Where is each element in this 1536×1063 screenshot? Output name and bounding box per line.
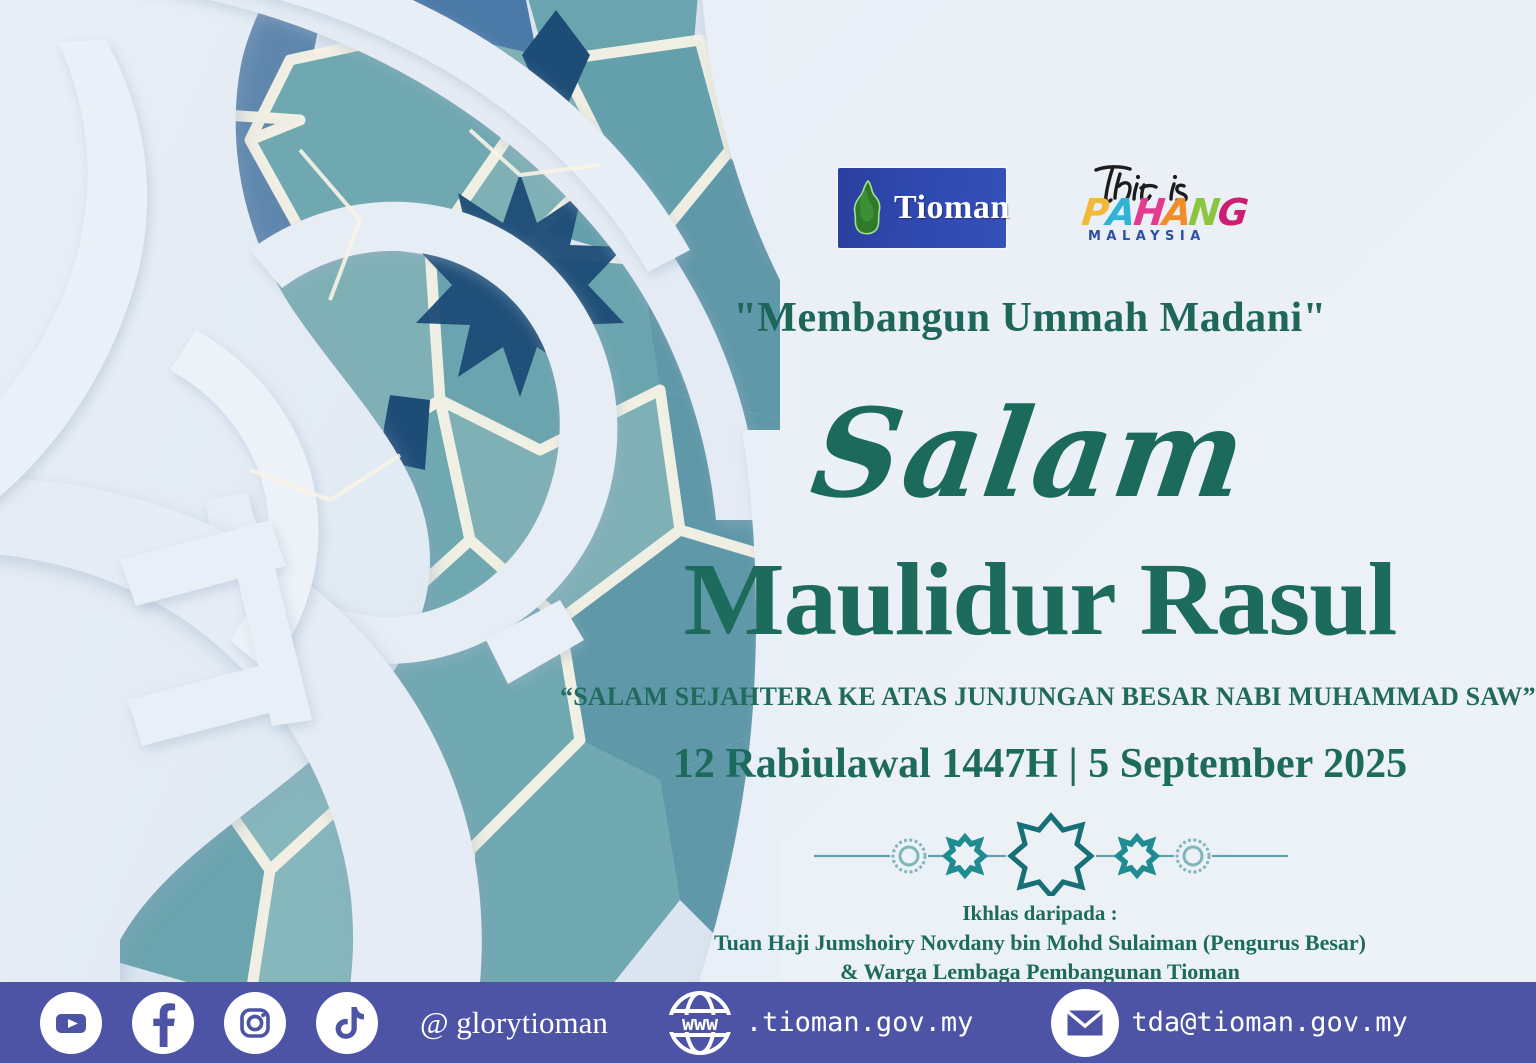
pahang-letter-2: H (1132, 194, 1165, 231)
social-handle-text: @ glorytioman (420, 1005, 608, 1041)
rosette-ornament-left (893, 840, 925, 872)
pahang-logo: PAHANG MALAYSIA (1078, 166, 1228, 250)
signature-block: Ikhlas daripada : Tuan Haji Jumshoiry No… (560, 900, 1520, 986)
greeting-script-text: Salam (591, 392, 1468, 514)
tiktok-icon[interactable] (316, 992, 378, 1054)
envelope-icon[interactable] (1051, 989, 1119, 1057)
pahang-letter-1: A (1105, 194, 1136, 231)
star-ornament-right (1118, 837, 1156, 875)
date-text: 12 Rabiulawal 1447H | 5 September 2025 (560, 740, 1520, 788)
subtitle-text: “SALAM SEJAHTERA KE ATAS JUNJUNGAN BESAR… (560, 682, 1520, 712)
www-label: www (682, 1011, 719, 1035)
tagline-text: "Membangun Ummah Madani" (620, 294, 1440, 342)
pahang-letter-4: N (1187, 194, 1220, 231)
ornamental-divider (800, 812, 1300, 896)
globe-icon[interactable]: www (664, 987, 736, 1059)
pahang-country-label: MALAYSIA (1088, 230, 1206, 243)
pahang-wordmark: PAHANG (1082, 194, 1247, 231)
email-text: tda@tioman.gov.my (1131, 1007, 1407, 1038)
poster-canvas: Tioman PAHANG MALAYSIA (0, 0, 1536, 1063)
instagram-icon[interactable] (224, 992, 286, 1054)
facebook-icon[interactable] (132, 992, 194, 1054)
website-text: .tioman.gov.my (746, 1007, 974, 1038)
rosette-ornament-right (1177, 840, 1209, 872)
signature-line-2: Tuan Haji Jumshoiry Novdany bin Mohd Sul… (560, 928, 1520, 957)
logo-row: Tioman PAHANG MALAYSIA (838, 166, 1228, 250)
tioman-island-icon (848, 179, 888, 237)
signature-line-1: Ikhlas daripada : (560, 900, 1520, 928)
youtube-icon[interactable] (40, 992, 102, 1054)
footer-bar: @ glorytioman www .tioman.gov.my tda@tio… (0, 982, 1536, 1063)
tioman-wordmark: Tioman (894, 191, 1010, 225)
pahang-letter-5: G (1216, 194, 1248, 231)
greeting-headline-text: Maulidur Rasul (546, 548, 1535, 652)
tioman-logo: Tioman (838, 168, 1006, 248)
star-ornament-center (1011, 816, 1091, 896)
star-ornament-left (946, 837, 984, 875)
